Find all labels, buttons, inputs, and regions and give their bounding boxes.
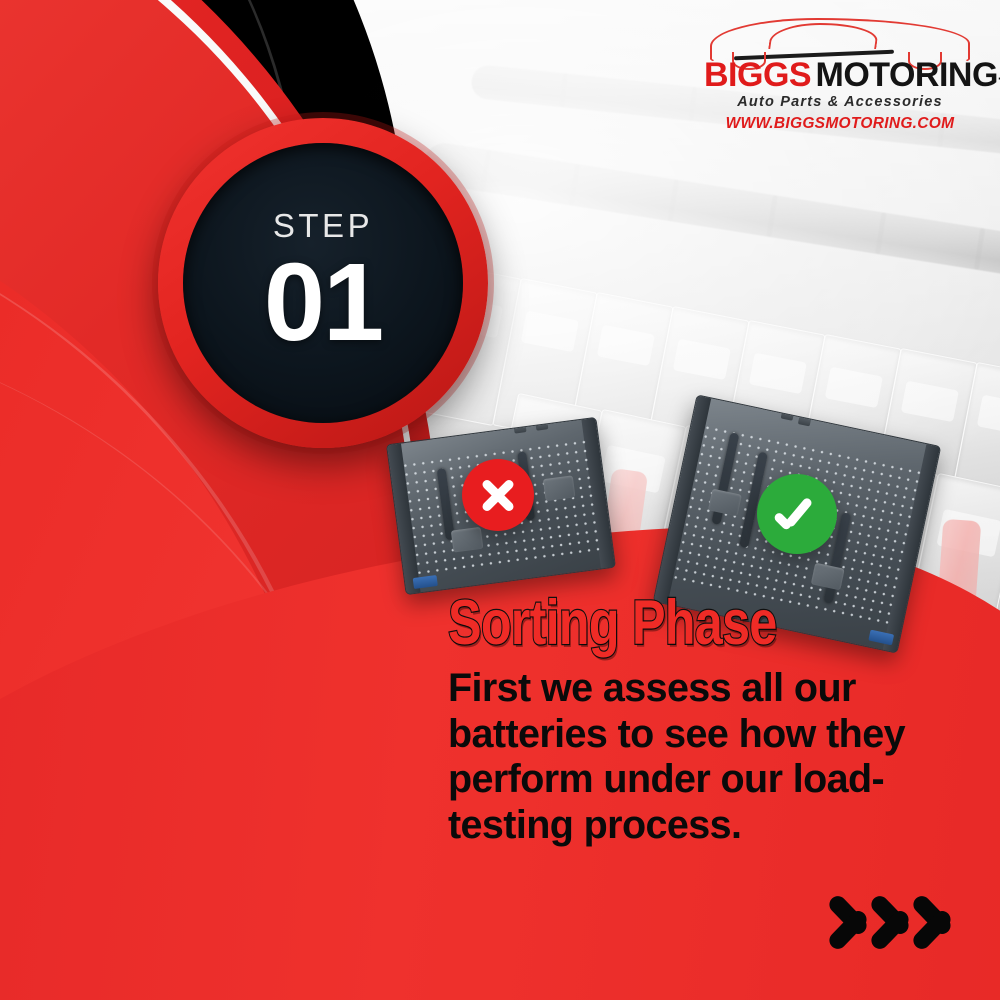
poster-canvas: BIGGS MOTORING AUTO PARTS & ACCESSORIES … [0, 0, 1000, 1000]
step-number: 01 [264, 248, 382, 358]
brand-logo: BIGGS MOTORING.com Auto Parts & Accessor… [704, 18, 976, 114]
step-label: STEP [273, 209, 373, 242]
check-mark-icon [757, 474, 837, 554]
step-badge: STEP 01 [158, 118, 488, 448]
x-mark-icon [462, 459, 534, 531]
brand-tagline: Auto Parts & Accessories [704, 94, 976, 110]
chevron-right-icon [912, 868, 962, 964]
content-block: Sorting Phase First we assess all our ba… [448, 594, 926, 849]
step-badge-inner: STEP 01 [183, 143, 463, 423]
chevron-arrow-group [828, 862, 978, 972]
body-copy: First we assess all our batteries to see… [448, 666, 926, 849]
brand-name: BIGGS MOTORING.com [704, 58, 976, 92]
module-pad [543, 475, 576, 501]
brand-website: WWW.BIGGSMOTORING.COM [704, 115, 976, 133]
status-badge-reject [462, 459, 534, 531]
brand-name-part2: MOTORING [816, 56, 998, 94]
status-badge-accept [757, 474, 837, 554]
headline: Sorting Phase [448, 594, 830, 654]
brand-name-part1: BIGGS [704, 56, 811, 94]
module-connector [413, 575, 438, 589]
